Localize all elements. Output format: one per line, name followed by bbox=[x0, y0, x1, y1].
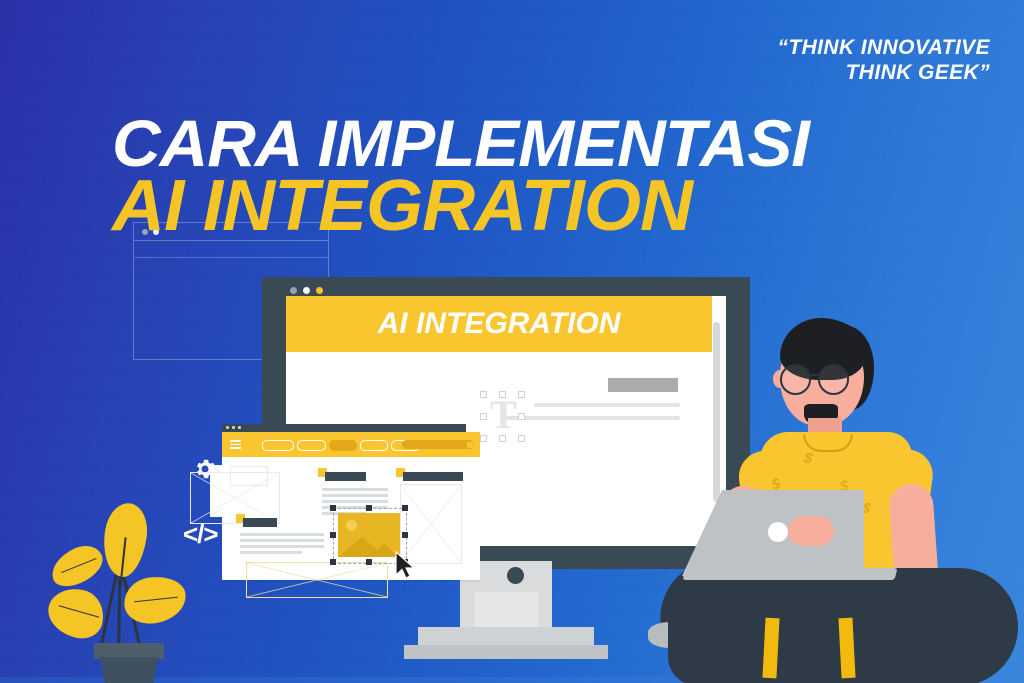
headline-secondary: AI INTEGRATION bbox=[112, 171, 809, 242]
plant-leaf bbox=[43, 583, 109, 643]
hamburger-icon[interactable] bbox=[230, 440, 241, 449]
plant-pot bbox=[100, 657, 158, 683]
wireframe-line bbox=[134, 257, 328, 258]
person-illustration: $ $ $ $ $ $ $ bbox=[640, 300, 1024, 683]
person-hand-left bbox=[788, 516, 834, 546]
glasses-lens-right bbox=[818, 364, 849, 395]
potted-plant bbox=[38, 495, 198, 683]
window-dot-white[interactable] bbox=[303, 287, 310, 294]
card-title-bar bbox=[243, 518, 277, 527]
window-dot-yellow[interactable] bbox=[316, 287, 323, 294]
card-text-line bbox=[240, 545, 324, 548]
selection-handle[interactable] bbox=[499, 435, 506, 442]
nav-pill-3-active[interactable] bbox=[329, 440, 357, 451]
search-icon bbox=[467, 442, 473, 448]
arrow-cursor-icon bbox=[395, 551, 417, 581]
selection-handle[interactable] bbox=[330, 559, 336, 565]
monitor-power-button[interactable] bbox=[507, 567, 524, 584]
editor-dot-3[interactable] bbox=[238, 426, 241, 429]
card-text-line bbox=[322, 494, 388, 497]
search-input[interactable] bbox=[402, 440, 474, 449]
selection-handle[interactable] bbox=[402, 505, 408, 511]
selection-handle[interactable] bbox=[518, 391, 525, 398]
card-text-line bbox=[240, 539, 324, 542]
card-title-bar bbox=[325, 472, 366, 481]
image-placeholder[interactable] bbox=[338, 513, 400, 557]
selection-handle[interactable] bbox=[366, 505, 372, 511]
page-title: CARA IMPLEMENTASI AI INTEGRATION bbox=[112, 112, 795, 242]
screen-banner-title: AI INTEGRATION bbox=[378, 307, 621, 341]
glasses-bridge bbox=[811, 374, 821, 376]
image-mountain-shape-small bbox=[370, 543, 398, 557]
text-tool-selection[interactable]: T bbox=[482, 393, 522, 437]
selection-handle[interactable] bbox=[518, 435, 525, 442]
tagline-line-2: THINK GEEK” bbox=[777, 61, 990, 86]
laptop-base bbox=[683, 568, 898, 580]
laptop-logo bbox=[768, 522, 788, 542]
nav-pill-2[interactable] bbox=[297, 440, 326, 451]
selection-handle[interactable] bbox=[480, 413, 487, 420]
card-title-bar bbox=[403, 472, 463, 481]
selection-handle[interactable] bbox=[499, 391, 506, 398]
tagline: “THINK INNOVATIVE THINK GEEK” bbox=[777, 36, 990, 86]
selection-handle[interactable] bbox=[518, 413, 525, 420]
nav-pill-1[interactable] bbox=[262, 440, 294, 451]
editor-toolbar bbox=[222, 432, 480, 457]
nav-pill-4[interactable] bbox=[360, 440, 388, 451]
selection-handle[interactable] bbox=[330, 532, 336, 538]
poster-canvas: “THINK INNOVATIVE THINK GEEK” CARA IMPLE… bbox=[0, 0, 1024, 683]
plant-pot-rim bbox=[94, 643, 164, 659]
selection-handle[interactable] bbox=[366, 559, 372, 565]
selection-handle[interactable] bbox=[402, 532, 408, 538]
image-wireframe-bottom bbox=[246, 562, 388, 598]
card-text-line bbox=[240, 533, 324, 536]
card-text-line bbox=[240, 551, 302, 554]
image-wireframe-left bbox=[190, 472, 280, 524]
window-dot-gray[interactable] bbox=[290, 287, 297, 294]
editor-dot-2[interactable] bbox=[232, 426, 235, 429]
card-text-line bbox=[322, 500, 388, 503]
image-sun-shape bbox=[346, 520, 357, 531]
text-tool-glyph: T bbox=[490, 395, 517, 435]
monitor-stand-neck-inner bbox=[474, 592, 538, 632]
editor-titlebar bbox=[222, 424, 466, 432]
tagline-line-1: “THINK INNOVATIVE bbox=[777, 36, 990, 61]
editor-dot-1[interactable] bbox=[226, 426, 229, 429]
glasses-lens-left bbox=[780, 364, 811, 395]
selection-handle[interactable] bbox=[480, 435, 487, 442]
card-text-line bbox=[322, 488, 388, 491]
selection-handle[interactable] bbox=[330, 505, 336, 511]
selection-handle[interactable] bbox=[480, 391, 487, 398]
monitor-stand-foot bbox=[404, 645, 608, 659]
